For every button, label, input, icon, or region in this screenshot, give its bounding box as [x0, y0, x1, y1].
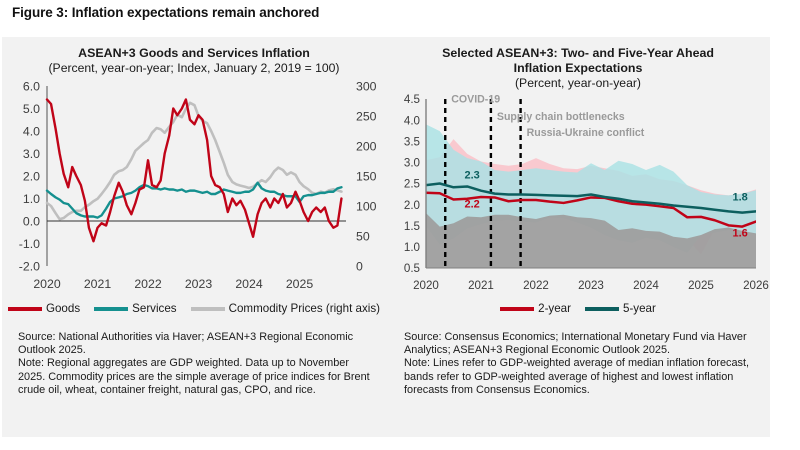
legend-item[interactable]: 2-year [500, 302, 571, 315]
y-axis-tick-label: 2.0 [404, 199, 420, 212]
x-axis-tick-label: 2025 [286, 277, 314, 291]
y2-axis-tick-label: 200 [356, 139, 377, 153]
legend-label: Goods [46, 302, 80, 315]
y-axis-tick-label: -2.0 [19, 259, 40, 273]
left-chart-column: ASEAN+3 Goods and Services Inflation (Pe… [2, 37, 386, 437]
x-axis-tick-label: 2021 [84, 277, 112, 291]
legend-item[interactable]: 5-year [585, 302, 656, 315]
y2-axis-tick-label: 0 [356, 259, 363, 273]
y-axis-tick-label: 1.5 [404, 220, 420, 233]
x-axis-tick-label: 2020 [413, 279, 439, 292]
right-chart-column: Selected ASEAN+3: Two- and Five-Year Ahe… [386, 37, 770, 437]
data-value-label: 2.2 [465, 199, 480, 211]
legend-swatch-icon [585, 307, 619, 311]
legend-swatch-icon [94, 307, 128, 311]
y-axis-tick-label: 1.0 [404, 241, 420, 254]
y2-axis-tick-label: 250 [356, 109, 377, 123]
y-axis-tick-label: 2.0 [23, 169, 40, 183]
legend-label: Commodity Prices (right axis) [229, 302, 380, 315]
figure-panel: ASEAN+3 Goods and Services Inflation (Pe… [2, 37, 770, 437]
right-chart-notes: Source: Consensus Economics; Internation… [386, 331, 770, 397]
series-line-commodity [47, 103, 341, 219]
right-chart-title-line1: Selected ASEAN+3: Two- and Five-Year Ahe… [386, 37, 770, 61]
y-axis-tick-label: 3.5 [404, 135, 420, 148]
x-axis-tick-label: 2020 [33, 277, 61, 291]
y-axis-tick-label: -1.0 [19, 237, 40, 251]
goods-services-inflation-chart: -2.0-1.00.01.02.03.04.05.06.005010015020… [2, 76, 386, 298]
legend-item[interactable]: Services [94, 302, 176, 315]
series-line-services [47, 183, 341, 218]
data-value-label: 1.8 [732, 191, 747, 203]
right-note-text: Note: Lines refer to GDP-weighted averag… [404, 357, 762, 397]
right-chart-title-line2: Inflation Expectations [386, 61, 770, 76]
legend-swatch-icon [191, 307, 225, 311]
x-axis-tick-label: 2024 [235, 277, 263, 291]
right-chart-legend: 2-year5-year [386, 302, 770, 315]
event-annotation-label: Russia-Ukraine conflict [527, 127, 645, 139]
figure-title: Figure 3: Inflation expectations remain … [12, 5, 319, 20]
y-axis-tick-label: 5.0 [23, 102, 40, 116]
y-axis-tick-label: 0.5 [404, 262, 420, 275]
y-axis-tick-label: 3.0 [23, 147, 40, 161]
y-axis-tick-label: 2.5 [404, 178, 420, 191]
legend-item[interactable]: Commodity Prices (right axis) [191, 302, 380, 315]
legend-item[interactable]: Goods [8, 302, 80, 315]
x-axis-tick-label: 2021 [468, 279, 494, 292]
y-axis-tick-label: 1.0 [23, 192, 40, 206]
right-plot-area: 0.51.01.52.02.53.03.54.04.52020202120222… [386, 91, 770, 298]
left-plot-area: -2.0-1.00.01.02.03.04.05.06.005010015020… [2, 76, 386, 298]
y-axis-tick-label: 6.0 [23, 79, 40, 93]
event-annotation-label: COVID-19 [451, 93, 500, 105]
y2-axis-tick-label: 300 [356, 79, 377, 93]
legend-label: 5-year [623, 302, 656, 315]
y2-axis-tick-label: 50 [356, 229, 370, 243]
right-chart-subtitle: (Percent, year-on-year) [386, 76, 770, 91]
y2-axis-tick-label: 100 [356, 199, 377, 213]
x-axis-tick-label: 2024 [633, 279, 659, 292]
data-value-label: 2.3 [465, 169, 480, 181]
left-chart-legend: GoodsServicesCommodity Prices (right axi… [2, 302, 386, 315]
y-axis-tick-label: 0.0 [23, 214, 40, 228]
legend-swatch-icon [500, 307, 534, 311]
y-axis-tick-label: 3.0 [404, 157, 420, 170]
x-axis-tick-label: 2025 [688, 279, 714, 292]
x-axis-tick-label: 2023 [578, 279, 604, 292]
left-chart-notes: Source: National Authorities via Haver; … [2, 331, 386, 397]
inflation-expectations-chart: 0.51.01.52.02.53.03.54.04.52020202120222… [386, 91, 770, 298]
series-line-goods [47, 100, 341, 242]
left-chart-title: ASEAN+3 Goods and Services Inflation [2, 37, 386, 61]
left-note-text: Note: Regional aggregates are GDP weight… [18, 357, 376, 397]
right-source-text: Source: Consensus Economics; Internation… [404, 331, 762, 357]
left-chart-subtitle: (Percent, year-on-year; Index, January 2… [2, 61, 386, 76]
left-source-text: Source: National Authorities via Haver; … [18, 331, 376, 357]
legend-label: Services [132, 302, 176, 315]
x-axis-tick-label: 2022 [134, 277, 162, 291]
y-axis-tick-label: 4.5 [404, 93, 420, 106]
x-axis-tick-label: 2022 [523, 279, 549, 292]
y-axis-tick-label: 4.0 [23, 124, 40, 138]
event-annotation-label: Supply chain bottlenecks [497, 111, 625, 123]
data-value-label: 1.6 [732, 227, 747, 239]
legend-swatch-icon [8, 307, 42, 311]
y-axis-tick-label: 4.0 [404, 114, 420, 127]
x-axis-tick-label: 2026 [743, 279, 769, 292]
legend-label: 2-year [538, 302, 571, 315]
x-axis-tick-label: 2023 [185, 277, 213, 291]
y2-axis-tick-label: 150 [356, 169, 377, 183]
